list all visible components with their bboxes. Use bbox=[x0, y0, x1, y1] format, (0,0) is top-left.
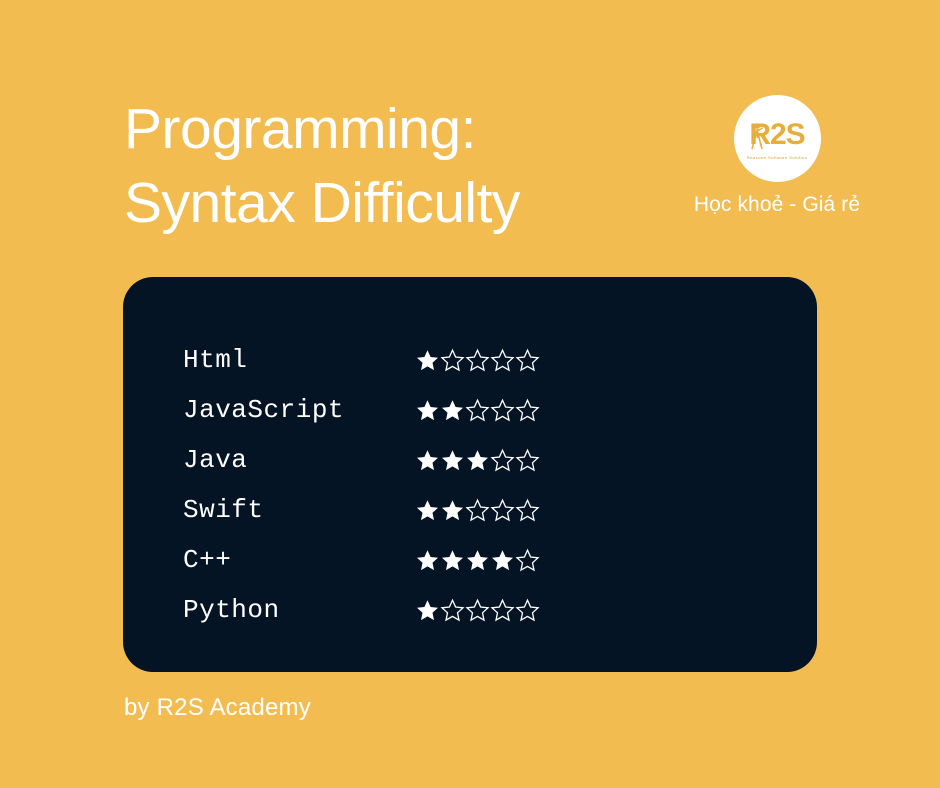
star-empty-icon bbox=[440, 598, 465, 623]
star-empty-icon bbox=[515, 548, 540, 573]
star-filled-icon bbox=[490, 548, 515, 573]
star-filled-icon bbox=[415, 398, 440, 423]
table-row: Java bbox=[183, 435, 743, 485]
star-filled-icon bbox=[440, 498, 465, 523]
language-label: Java bbox=[183, 445, 415, 475]
r2s-logo-icon: R2S Reasone Software Solution bbox=[734, 95, 821, 182]
star-filled-icon bbox=[465, 548, 490, 573]
brand-tagline: Học khoẻ - Giá rẻ bbox=[694, 193, 860, 217]
language-label: Html bbox=[183, 345, 415, 375]
ratings-list: HtmlJavaScriptJavaSwiftC++Python bbox=[183, 335, 743, 635]
star-filled-icon bbox=[415, 448, 440, 473]
star-empty-icon bbox=[515, 448, 540, 473]
star-empty-icon bbox=[515, 348, 540, 373]
star-filled-icon bbox=[415, 548, 440, 573]
footer-credit: by R2S Academy bbox=[124, 694, 311, 722]
star-filled-icon bbox=[415, 598, 440, 623]
star-empty-icon bbox=[440, 348, 465, 373]
rating-stars bbox=[415, 548, 540, 573]
table-row: JavaScript bbox=[183, 385, 743, 435]
poster-canvas: Programming: Syntax Difficulty R2S Reaso… bbox=[0, 0, 940, 788]
ratings-card: HtmlJavaScriptJavaSwiftC++Python bbox=[123, 277, 817, 672]
rating-stars bbox=[415, 498, 540, 523]
title-line-2: Syntax Difficulty bbox=[124, 166, 684, 240]
star-filled-icon bbox=[440, 548, 465, 573]
climber-figure-icon bbox=[750, 120, 765, 150]
star-empty-icon bbox=[465, 398, 490, 423]
table-row: Html bbox=[183, 335, 743, 385]
language-label: Swift bbox=[183, 495, 415, 525]
star-empty-icon bbox=[490, 498, 515, 523]
logo-subtext: Reasone Software Solution bbox=[747, 155, 808, 160]
table-row: C++ bbox=[183, 535, 743, 585]
star-empty-icon bbox=[465, 498, 490, 523]
star-filled-icon bbox=[465, 448, 490, 473]
star-filled-icon bbox=[415, 348, 440, 373]
star-filled-icon bbox=[440, 448, 465, 473]
table-row: Python bbox=[183, 585, 743, 635]
title-line-1: Programming: bbox=[124, 92, 684, 166]
language-label: Python bbox=[183, 595, 415, 625]
star-empty-icon bbox=[465, 348, 490, 373]
language-label: C++ bbox=[183, 545, 415, 575]
table-row: Swift bbox=[183, 485, 743, 535]
star-empty-icon bbox=[490, 348, 515, 373]
star-empty-icon bbox=[515, 498, 540, 523]
star-empty-icon bbox=[515, 598, 540, 623]
rating-stars bbox=[415, 348, 540, 373]
logo-mark: R2S bbox=[743, 118, 811, 152]
star-filled-icon bbox=[415, 498, 440, 523]
rating-stars bbox=[415, 598, 540, 623]
page-title: Programming: Syntax Difficulty bbox=[124, 92, 684, 240]
rating-stars bbox=[415, 398, 540, 423]
star-filled-icon bbox=[440, 398, 465, 423]
star-empty-icon bbox=[490, 448, 515, 473]
rating-stars bbox=[415, 448, 540, 473]
star-empty-icon bbox=[515, 398, 540, 423]
brand-block: R2S Reasone Software Solution Học khoẻ -… bbox=[686, 95, 868, 217]
star-empty-icon bbox=[490, 398, 515, 423]
star-empty-icon bbox=[490, 598, 515, 623]
language-label: JavaScript bbox=[183, 395, 415, 425]
star-empty-icon bbox=[465, 598, 490, 623]
